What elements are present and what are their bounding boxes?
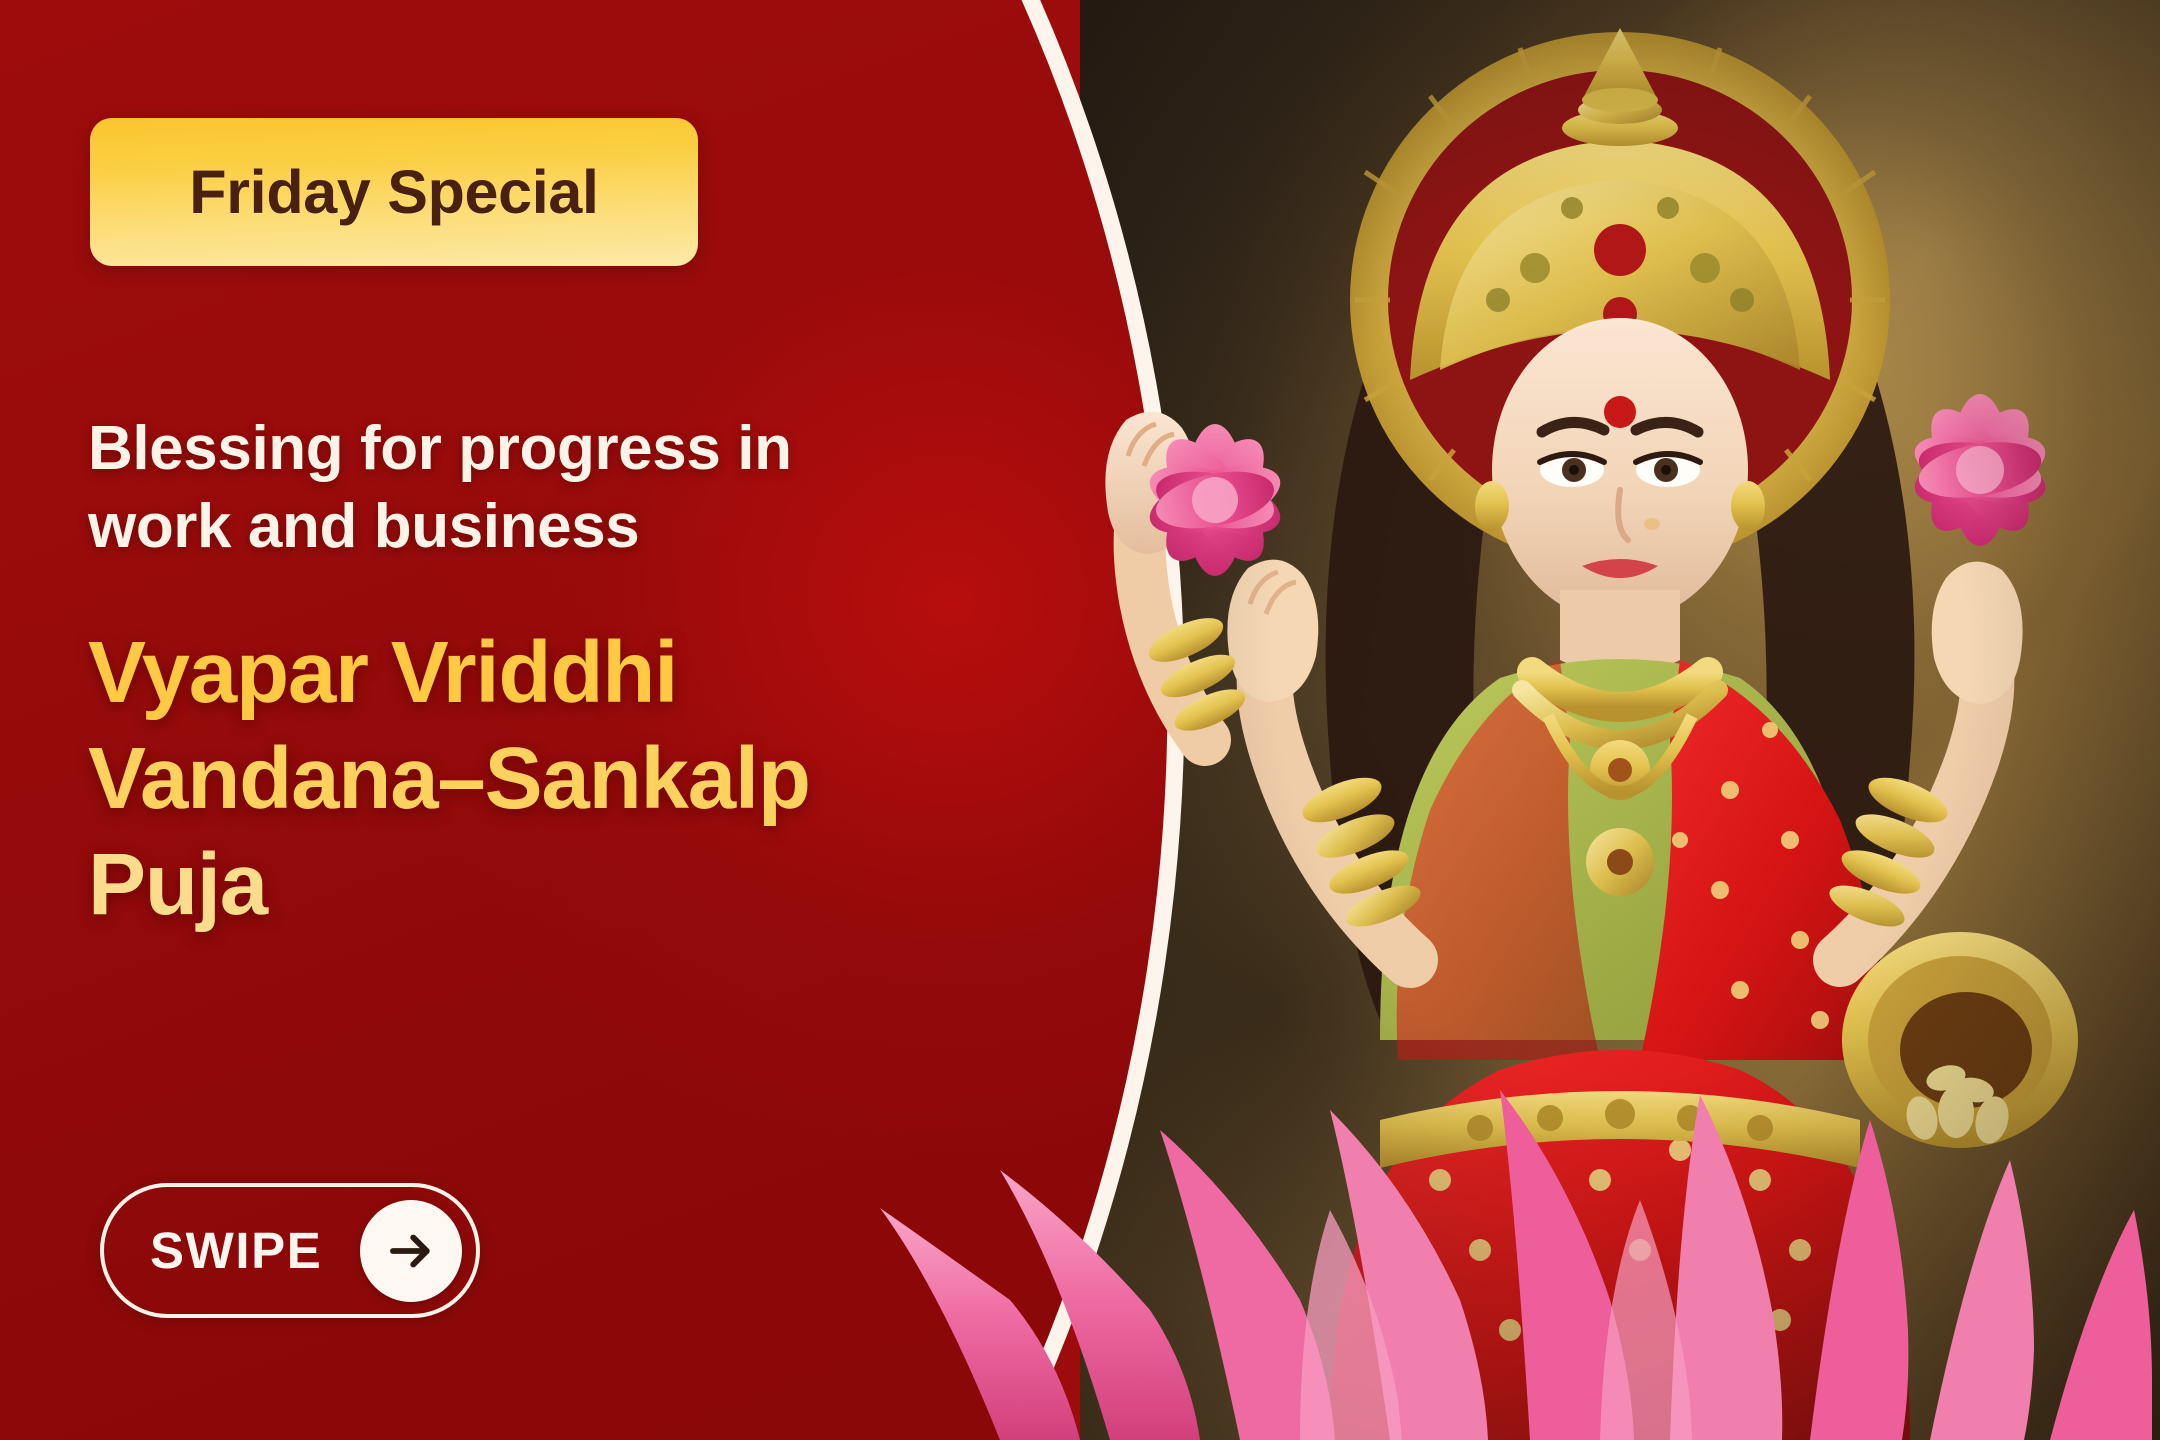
swipe-button[interactable]: SWIPE [100, 1183, 480, 1318]
badge-label: Friday Special [189, 157, 598, 227]
headline-line-3: Puja [88, 832, 1088, 938]
banner-headline: Vyapar Vriddhi Vandana–Sankalp Puja [88, 620, 1088, 938]
promo-banner: Friday Special Blessing for progress in … [0, 0, 2160, 1440]
headline-line-2: Vandana–Sankalp [88, 726, 1088, 832]
banner-subtitle: Blessing for progress in work and busine… [88, 410, 988, 566]
subtitle-line-2: work and business [88, 492, 639, 561]
deity-photo-region [1080, 0, 2160, 1440]
swipe-label: SWIPE [150, 1221, 322, 1280]
arrow-right-icon[interactable] [360, 1200, 462, 1302]
headline-line-1: Vyapar Vriddhi [88, 620, 1088, 726]
banner-content: Friday Special Blessing for progress in … [0, 0, 1100, 1440]
friday-special-badge: Friday Special [90, 118, 698, 266]
photo-vignette [1080, 0, 2160, 1440]
subtitle-line-1: Blessing for progress in [88, 414, 792, 483]
